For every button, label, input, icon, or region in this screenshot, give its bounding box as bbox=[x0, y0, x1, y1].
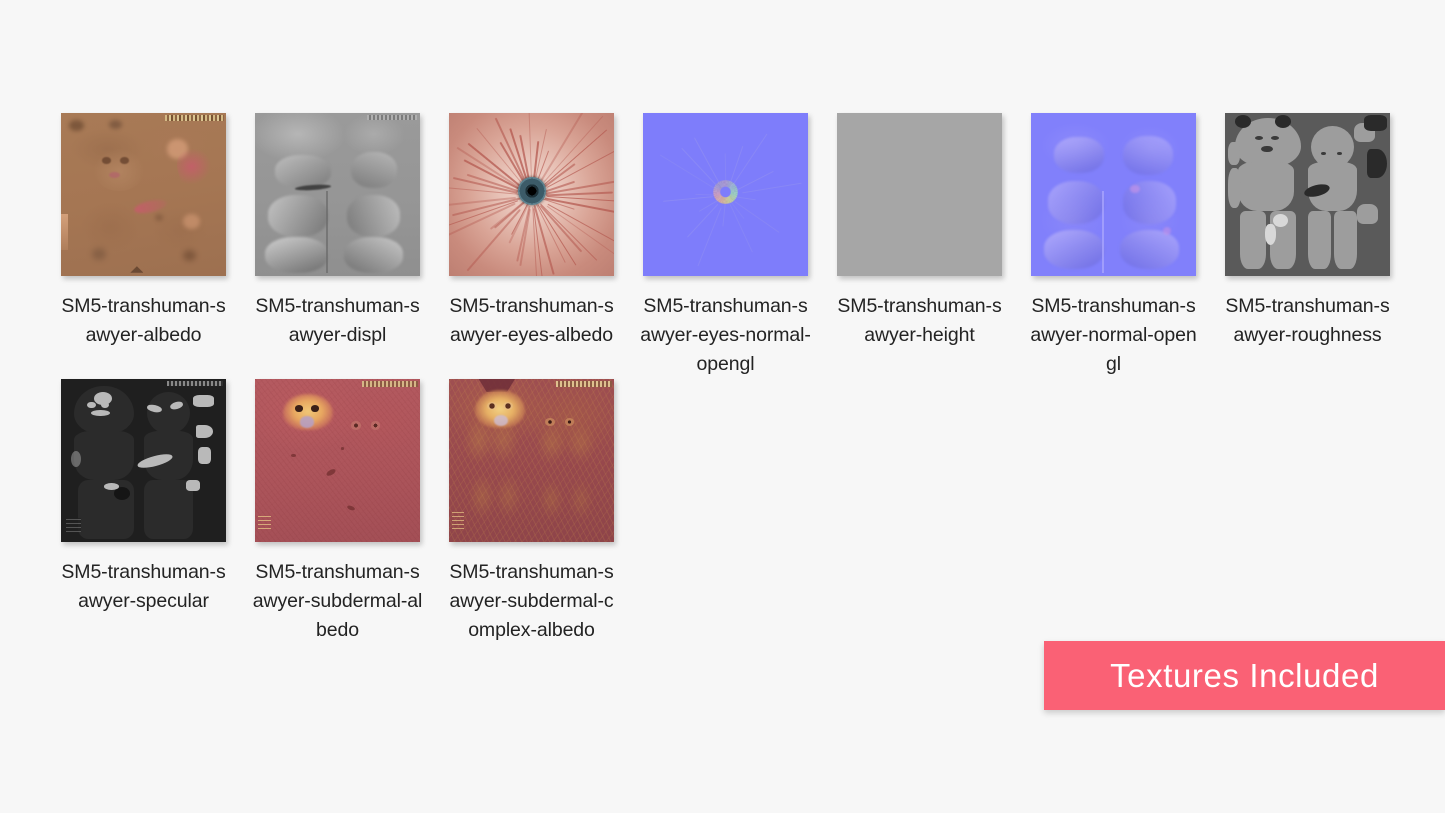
texture-detail-uv-strip bbox=[556, 381, 612, 388]
eyes-normal-thumbnail[interactable] bbox=[643, 113, 808, 276]
texture-detail-blob bbox=[155, 214, 163, 221]
texture-label: SM5-transhuman-sawyer-specular bbox=[58, 558, 230, 616]
texture-detail-highlight bbox=[193, 395, 214, 406]
texture-detail-eye-left bbox=[295, 405, 303, 412]
texture-detail-highlight bbox=[87, 402, 95, 409]
texture-detail-highlight bbox=[186, 480, 199, 491]
texture-item-albedo[interactable]: SM5-transhuman-sawyer-albedo bbox=[61, 113, 226, 350]
texture-item-height[interactable]: SM5-transhuman-sawyer-height bbox=[837, 113, 1002, 350]
texture-label: SM5-transhuman-sawyer-height bbox=[834, 292, 1006, 350]
specular-thumbnail[interactable] bbox=[61, 379, 226, 542]
texture-detail-uv-island bbox=[1334, 211, 1357, 270]
texture-detail-region bbox=[351, 152, 397, 188]
texture-detail-highlight bbox=[71, 451, 81, 467]
texture-row: SM5-transhuman-sawyer-albedo SM5-tra bbox=[61, 113, 1391, 379]
textures-included-badge: Textures Included bbox=[1044, 641, 1445, 710]
texture-detail-eye-right bbox=[311, 405, 319, 412]
thumbnail-wrapper[interactable] bbox=[255, 113, 420, 276]
texture-detail-uv-strip bbox=[66, 518, 81, 533]
texture-detail-region bbox=[265, 237, 328, 273]
texture-detail-uv-island bbox=[1308, 211, 1331, 270]
texture-label: SM5-transhuman-sawyer-displ bbox=[252, 292, 424, 350]
texture-detail-mouth bbox=[300, 416, 315, 427]
texture-detail-bright-region bbox=[1273, 214, 1288, 227]
texture-detail-uv-island bbox=[1228, 142, 1240, 165]
texture-detail-highlight bbox=[1130, 185, 1140, 193]
height-thumbnail[interactable] bbox=[837, 113, 1002, 276]
thumbnail-wrapper[interactable] bbox=[643, 113, 808, 276]
texture-detail-eye-left bbox=[487, 402, 497, 410]
thumbnail-wrapper[interactable] bbox=[61, 379, 226, 542]
texture-detail-feature bbox=[371, 421, 381, 429]
texture-detail-uv-strip bbox=[362, 381, 418, 388]
texture-label: SM5-transhuman-sawyer-albedo bbox=[58, 292, 230, 350]
texture-detail-edge bbox=[61, 214, 68, 250]
texture-label: SM5-transhuman-sawyer-eyes-albedo bbox=[446, 292, 618, 350]
texture-detail-uv-strip bbox=[452, 511, 464, 529]
subdermal-complex-albedo-thumbnail[interactable] bbox=[449, 379, 614, 542]
texture-item-roughness[interactable]: SM5-transhuman-sawyer-roughness bbox=[1225, 113, 1390, 350]
texture-detail-uv-island bbox=[1240, 211, 1266, 270]
thumbnail-wrapper[interactable] bbox=[449, 379, 614, 542]
texture-detail-face bbox=[94, 149, 144, 191]
texture-detail-highlight bbox=[183, 214, 200, 229]
normal-thumbnail[interactable] bbox=[1031, 113, 1196, 276]
subdermal-albedo-thumbnail[interactable] bbox=[255, 379, 420, 542]
texture-detail-seam bbox=[1102, 191, 1104, 273]
texture-label: SM5-transhuman-sawyer-roughness bbox=[1222, 292, 1394, 350]
badge-label: Textures Included bbox=[1110, 657, 1379, 695]
texture-detail-blob bbox=[69, 120, 84, 131]
texture-detail-dark-region bbox=[1275, 115, 1292, 128]
texture-surface bbox=[61, 113, 226, 276]
roughness-thumbnail[interactable] bbox=[1225, 113, 1390, 276]
texture-label: SM5-transhuman-sawyer-subdermal-complex-… bbox=[446, 558, 618, 645]
texture-detail-veins bbox=[449, 379, 614, 542]
texture-detail-highlight bbox=[104, 483, 119, 490]
texture-gallery: SM5-transhuman-sawyer-albedo SM5-tra bbox=[61, 113, 1391, 645]
texture-detail-highlight bbox=[196, 425, 213, 438]
texture-detail-dark-region bbox=[1367, 149, 1387, 178]
texture-detail-region bbox=[1044, 230, 1103, 269]
texture-detail-uv-island bbox=[1238, 162, 1294, 211]
eyes-albedo-thumbnail[interactable] bbox=[449, 113, 614, 276]
thumbnail-wrapper[interactable] bbox=[255, 379, 420, 542]
texture-label: SM5-transhuman-sawyer-subdermal-albedo bbox=[252, 558, 424, 645]
texture-detail-feature bbox=[545, 418, 555, 426]
thumbnail-wrapper[interactable] bbox=[1031, 113, 1196, 276]
texture-detail-uv-island bbox=[74, 431, 133, 480]
texture-detail-eye-left bbox=[102, 157, 110, 164]
texture-item-eyes-albedo[interactable]: SM5-transhuman-sawyer-eyes-albedo bbox=[449, 113, 614, 350]
texture-detail-uv-strip bbox=[165, 115, 224, 122]
texture-detail-region bbox=[344, 237, 403, 273]
texture-item-normal[interactable]: SM5-transhuman-sawyer-normal-opengl bbox=[1031, 113, 1196, 379]
texture-detail-uv-strip bbox=[258, 513, 271, 529]
texture-detail-region bbox=[347, 195, 400, 237]
texture-detail-iris-ring bbox=[713, 180, 738, 204]
texture-detail-noise bbox=[255, 379, 420, 542]
texture-item-eyes-normal[interactable]: SM5-transhuman-sawyer-eyes-normal-opengl bbox=[643, 113, 808, 379]
thumbnail-wrapper[interactable] bbox=[449, 113, 614, 276]
texture-item-specular[interactable]: SM5-transhuman-sawyer-specular bbox=[61, 379, 226, 616]
texture-detail-dark-region bbox=[1235, 115, 1252, 128]
texture-detail-iris bbox=[518, 177, 545, 205]
albedo-thumbnail[interactable] bbox=[61, 113, 226, 276]
texture-detail-uv-island bbox=[1228, 168, 1241, 207]
texture-detail-feature bbox=[351, 421, 361, 429]
texture-detail-region bbox=[1123, 136, 1173, 175]
texture-detail-feature bbox=[1255, 136, 1263, 140]
texture-detail-region bbox=[1048, 181, 1104, 223]
texture-detail-blob bbox=[92, 248, 105, 259]
texture-detail-region bbox=[1120, 230, 1179, 269]
texture-detail-seam bbox=[326, 191, 328, 273]
texture-surface bbox=[837, 113, 1002, 276]
texture-label: SM5-transhuman-sawyer-normal-opengl bbox=[1028, 292, 1200, 379]
texture-detail-uv-strip bbox=[367, 115, 417, 120]
texture-detail-region bbox=[268, 195, 327, 237]
texture-detail-bright-region bbox=[1265, 224, 1277, 245]
texture-label: SM5-transhuman-sawyer-eyes-normal-opengl bbox=[640, 292, 812, 379]
texture-item-subdermal-albedo[interactable]: SM5-transhuman-sawyer-subdermal-albedo bbox=[255, 379, 420, 645]
thumbnail-wrapper[interactable] bbox=[61, 113, 226, 276]
texture-detail-uv-island bbox=[1357, 204, 1378, 224]
texture-detail-region bbox=[1054, 137, 1104, 173]
texture-item-displ[interactable]: SM5-transhuman-sawyer-displ bbox=[255, 113, 420, 350]
texture-detail-uv-island bbox=[147, 392, 190, 434]
thumbnail-wrapper[interactable] bbox=[1225, 113, 1390, 276]
texture-detail-eye-right bbox=[120, 157, 128, 164]
texture-detail-feature bbox=[1261, 146, 1273, 153]
texture-detail-region bbox=[275, 155, 331, 188]
texture-row: SM5-transhuman-sawyer-specular bbox=[61, 379, 1391, 645]
texture-item-subdermal-complex-albedo[interactable]: SM5-transhuman-sawyer-subdermal-complex-… bbox=[449, 379, 614, 645]
displacement-thumbnail[interactable] bbox=[255, 113, 420, 276]
texture-detail-dark-region bbox=[1364, 115, 1387, 131]
thumbnail-wrapper[interactable] bbox=[837, 113, 1002, 276]
texture-detail-uv-strip bbox=[167, 381, 223, 386]
texture-detail-highlight bbox=[198, 447, 211, 463]
